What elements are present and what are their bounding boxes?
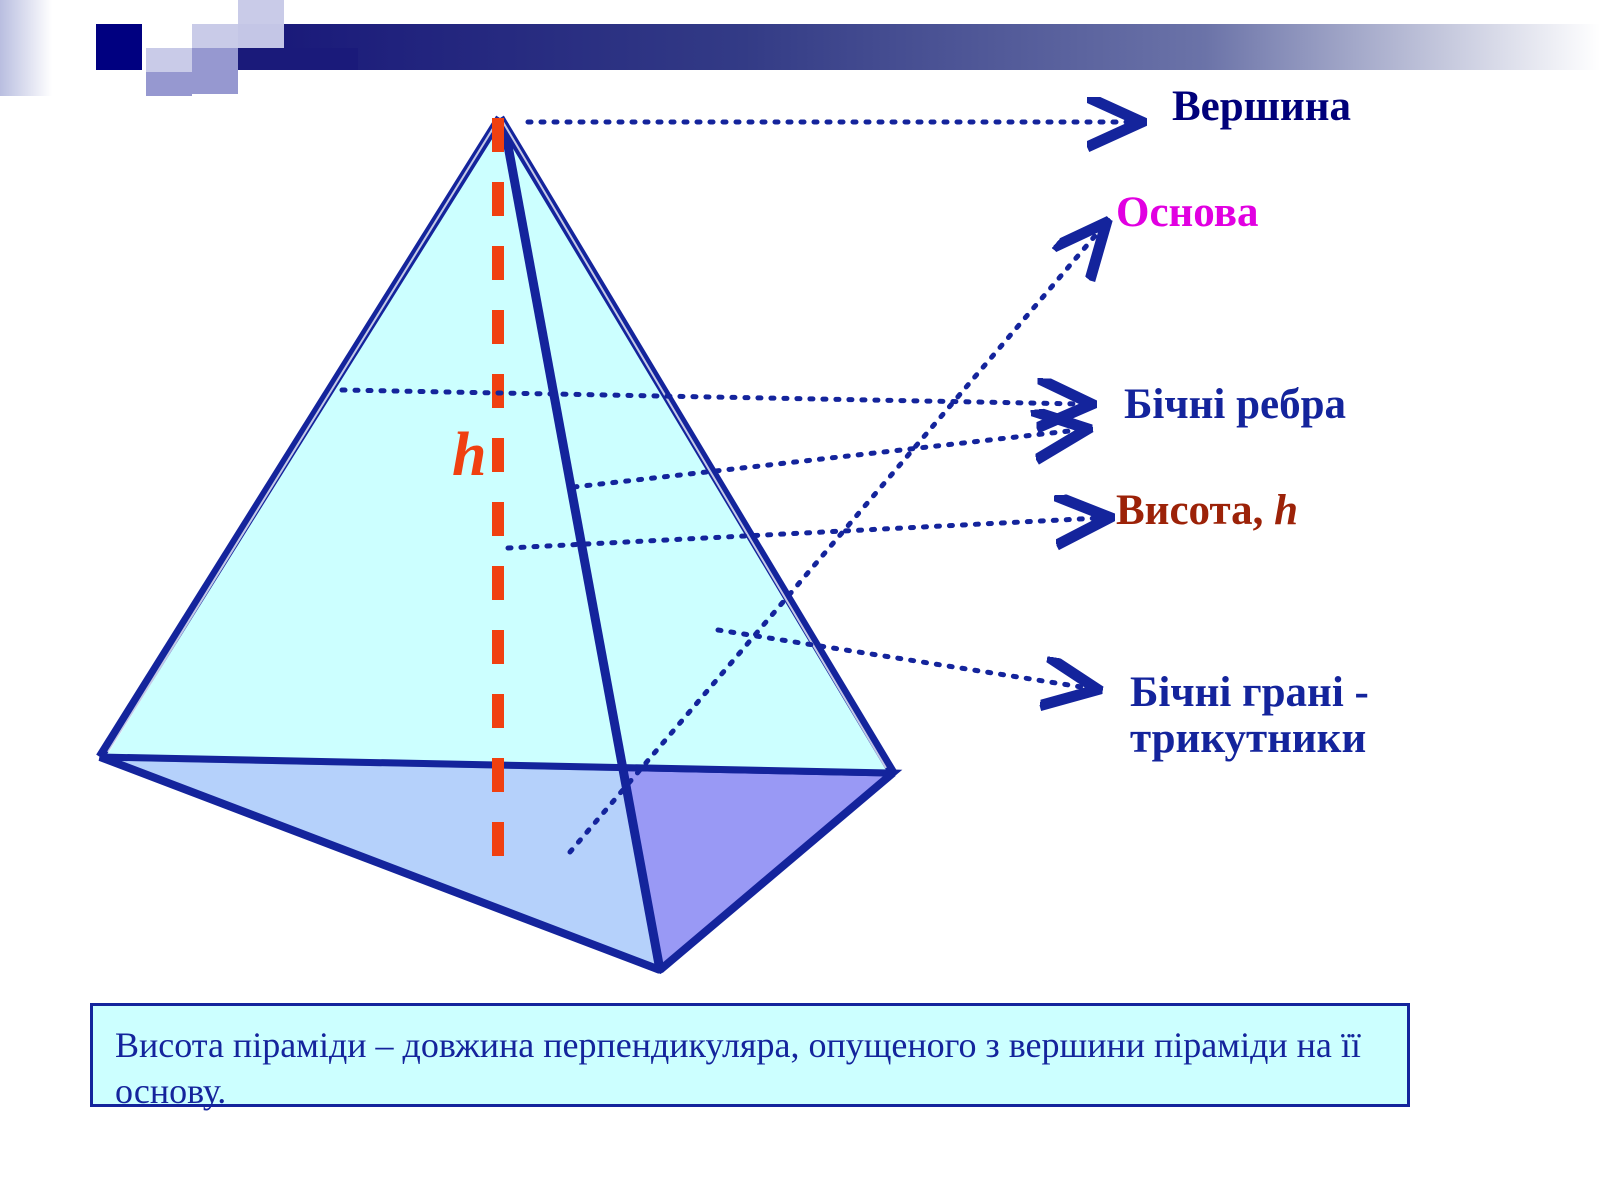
definition-box: Висота піраміди – довжина перпендикуляра… (90, 1003, 1410, 1107)
label-lateral-edges: Бічні ребра (1124, 382, 1346, 428)
label-base: Основа (1116, 190, 1258, 236)
height-symbol-h: h (452, 420, 486, 491)
label-height-text: Висота, (1116, 487, 1274, 534)
label-lateral-faces-line2: трикутники (1130, 716, 1369, 762)
label-vertex: Вершина (1172, 84, 1351, 130)
definition-text: Висота піраміди – довжина перпендикуляра… (115, 1022, 1385, 1114)
slide-canvas: h Вершина Основа Бічні ребра Висота, h Б… (0, 0, 1600, 1200)
label-lateral-faces-line1: Бічні грані - (1130, 669, 1369, 716)
label-lateral-faces: Бічні грані -трикутники (1130, 670, 1369, 763)
label-height-symbol: h (1274, 487, 1298, 534)
label-height: Висота, h (1116, 488, 1298, 534)
